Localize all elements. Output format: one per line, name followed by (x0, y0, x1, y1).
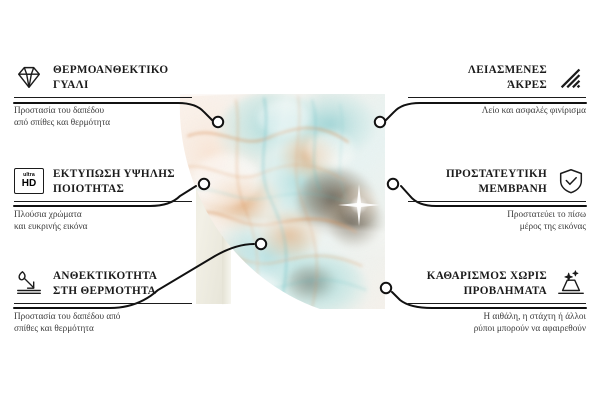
feature-title-line2: ΠΡΟΒΛΗΜΑΤΑ (427, 284, 547, 299)
feature-title: ΚΑΘΑΡΙΣΜΟΣ ΧΩΡΙΣ ΠΡΟΒΛΗΜΑΤΑ (427, 268, 547, 298)
desc-line1: Προστασία του δαπέδου από (14, 310, 192, 322)
desc-line2: μέρος της εικόνας (408, 220, 586, 232)
divider (14, 201, 192, 202)
desc-line1: Λείο και ασφαλές φινίρισμα (408, 104, 586, 116)
feature-title: ΛΕΙΑΣΜΕΝΕΣ ΆΚΡΕΣ (468, 62, 547, 92)
divider (408, 303, 586, 304)
anchor-dot-right-2 (388, 179, 398, 189)
feature-title: ΑΝΘΕΚΤΙΚΟΤΗΤΑ ΣΤΗ ΘΕΡΜΟΤΗΤΑ (53, 268, 157, 298)
anchor-dot-left-1 (213, 117, 223, 127)
feature-title-line1: ΘΕΡΜΟΑΝΘΕΚΤΙΚΟ (53, 63, 168, 78)
ultra-hd-badge-icon: ultra HD (14, 168, 44, 194)
divider (14, 97, 192, 98)
sparkle-wipe-clean-icon (556, 268, 586, 298)
diamond-icon (14, 62, 44, 92)
divider (408, 201, 586, 202)
feature-title: ΕΚΤΥΠΩΣΗ ΥΨΗΛΗΣ ΠΟΙΟΤΗΤΑΣ (53, 166, 175, 196)
desc-line1: Προστασία του δαπέδου (14, 104, 192, 116)
anchor-dot-left-3 (256, 239, 266, 249)
feature-title-line2: ΠΟΙΟΤΗΤΑΣ (53, 182, 175, 197)
feature-description: Προστασία του δαπέδου από σπίθες και θερ… (14, 310, 192, 334)
feature-title-line1: ΠΡΟΣΤΑΤΕΥΤΙΚΗ (446, 167, 547, 182)
feature-description: Προστατεύει το πίσω μέρος της εικόνας (408, 208, 586, 232)
feature-title-line2: ΣΤΗ ΘΕΡΜΟΤΗΤΑ (53, 284, 157, 299)
feature-header: ΘΕΡΜΟΑΝΘΕΚΤΙΚΟ ΓΥΑΛΙ (14, 62, 192, 92)
infographic-canvas: ΘΕΡΜΟΑΝΘΕΚΤΙΚΟ ΓΥΑΛΙ Προστασία του δαπέδ… (0, 0, 600, 400)
desc-line2: ρύποι μπορούν να αφαιρεθούν (408, 322, 586, 334)
feature-description: Η αιθάλη, η στάχτη ή άλλοι ρύποι μπορούν… (408, 310, 586, 334)
divider (408, 97, 586, 98)
feature-polished-edges[interactable]: ΛΕΙΑΣΜΕΝΕΣ ΆΚΡΕΣ Λείο και ασφαλές φινίρι… (408, 62, 586, 116)
feature-description: Λείο και ασφαλές φινίρισμα (408, 104, 586, 116)
anchor-dot-right-1 (375, 117, 385, 127)
striped-triangle-edges-icon (556, 62, 586, 92)
badge-text-hd: HD (22, 179, 36, 189)
feature-heat-durability[interactable]: ΑΝΘΕΚΤΙΚΟΤΗΤΑ ΣΤΗ ΘΕΡΜΟΤΗΤΑ Προστασία το… (14, 268, 192, 334)
feature-header: ΑΝΘΕΚΤΙΚΟΤΗΤΑ ΣΤΗ ΘΕΡΜΟΤΗΤΑ (14, 268, 192, 298)
feature-title-line2: ΆΚΡΕΣ (468, 78, 547, 93)
feature-header: ultra HD ΕΚΤΥΠΩΣΗ ΥΨΗΛΗΣ ΠΟΙΟΤΗΤΑΣ (14, 166, 192, 196)
desc-line2: και ευκρινής εικόνα (14, 220, 192, 232)
anchor-dot-right-3 (381, 283, 391, 293)
feature-easy-cleaning[interactable]: ΚΑΘΑΡΙΣΜΟΣ ΧΩΡΙΣ ΠΡΟΒΛΗΜΑΤΑ Η αιθάλη, η … (408, 268, 586, 334)
feature-header: ΚΑΘΑΡΙΣΜΟΣ ΧΩΡΙΣ ΠΡΟΒΛΗΜΑΤΑ (408, 268, 586, 298)
feature-protective-membrane[interactable]: ΠΡΟΣΤΑΤΕΥΤΙΚΗ ΜΕΜΒΡΑΝΗ Προστατεύει το πί… (408, 166, 586, 232)
flame-heat-resistance-icon (14, 268, 44, 298)
feature-title-line2: ΜΕΜΒΡΑΝΗ (446, 182, 547, 197)
feature-description: Πλούσια χρώματα και ευκρινής εικόνα (14, 208, 192, 232)
feature-description: Προστασία του δαπέδου από σπίθες και θερ… (14, 104, 192, 128)
feature-title-line1: ΑΝΘΕΚΤΙΚΟΤΗΤΑ (53, 269, 157, 284)
anchor-dot-left-2 (199, 179, 209, 189)
feature-header: ΛΕΙΑΣΜΕΝΕΣ ΆΚΡΕΣ (408, 62, 586, 92)
feature-title-line1: ΕΚΤΥΠΩΣΗ ΥΨΗΛΗΣ (53, 167, 175, 182)
desc-line2: σπίθες και θερμότητα (14, 322, 192, 334)
feature-heat-resistant-glass[interactable]: ΘΕΡΜΟΑΝΘΕΚΤΙΚΟ ΓΥΑΛΙ Προστασία του δαπέδ… (14, 62, 192, 128)
desc-line1: Πλούσια χρώματα (14, 208, 192, 220)
feature-title-line2: ΓΥΑΛΙ (53, 78, 168, 93)
feature-title: ΘΕΡΜΟΑΝΘΕΚΤΙΚΟ ΓΥΑΛΙ (53, 62, 168, 92)
desc-line1: Η αιθάλη, η στάχτη ή άλλοι (408, 310, 586, 322)
desc-line2: από σπίθες και θερμότητα (14, 116, 192, 128)
divider (14, 303, 192, 304)
feature-title: ΠΡΟΣΤΑΤΕΥΤΙΚΗ ΜΕΜΒΡΑΝΗ (446, 166, 547, 196)
feature-title-line1: ΛΕΙΑΣΜΕΝΕΣ (468, 63, 547, 78)
shield-check-icon (556, 166, 586, 196)
feature-high-quality-print[interactable]: ultra HD ΕΚΤΥΠΩΣΗ ΥΨΗΛΗΣ ΠΟΙΟΤΗΤΑΣ Πλούσ… (14, 166, 192, 232)
feature-title-line1: ΚΑΘΑΡΙΣΜΟΣ ΧΩΡΙΣ (427, 269, 547, 284)
feature-header: ΠΡΟΣΤΑΤΕΥΤΙΚΗ ΜΕΜΒΡΑΝΗ (408, 166, 586, 196)
desc-line1: Προστατεύει το πίσω (408, 208, 586, 220)
